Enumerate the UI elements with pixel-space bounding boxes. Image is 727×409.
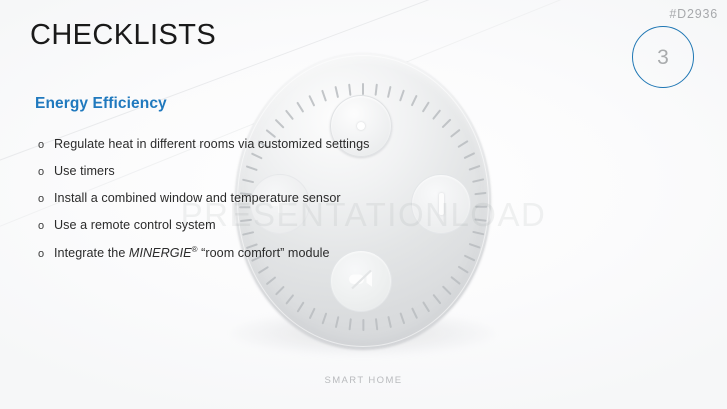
list-item: oIntegrate the MINERGIE® “room comfort” … [38,245,458,269]
bullet-marker-icon: o [38,167,54,178]
list-item-label: Regulate heat in different rooms via cus… [54,137,369,151]
list-item-label: Integrate the MINERGIE® “room comfort” m… [54,245,330,260]
bullet-marker-icon: o [38,194,54,205]
list-item: oUse timers [38,164,458,188]
dot-indicator-icon [357,122,365,130]
list-item-label: Use a remote control system [54,218,216,232]
section-heading: Energy Efficiency [35,95,167,113]
list-item: oUse a remote control system [38,218,458,242]
slide-canvas: PRESENTATIONLOAD CHECKLISTS #D2936 3 Ene… [0,0,727,409]
slide-id-label: #D2936 [669,7,718,21]
list-item-label: Install a combined window and temperatur… [54,191,341,205]
list-item: oInstall a combined window and temperatu… [38,191,458,215]
slide-number-badge: 3 [632,26,694,88]
checklist-bullet-list: oRegulate heat in different rooms via cu… [38,137,458,272]
bullet-marker-icon: o [38,221,54,232]
list-item-label: Use timers [54,164,115,178]
page-title: CHECKLISTS [30,19,216,52]
slide-number-value: 3 [657,47,669,68]
bullet-marker-icon: o [38,140,54,151]
bullet-marker-icon: o [38,249,54,260]
image-caption: SMART HOME [0,375,727,386]
list-item: oRegulate heat in different rooms via cu… [38,137,458,161]
